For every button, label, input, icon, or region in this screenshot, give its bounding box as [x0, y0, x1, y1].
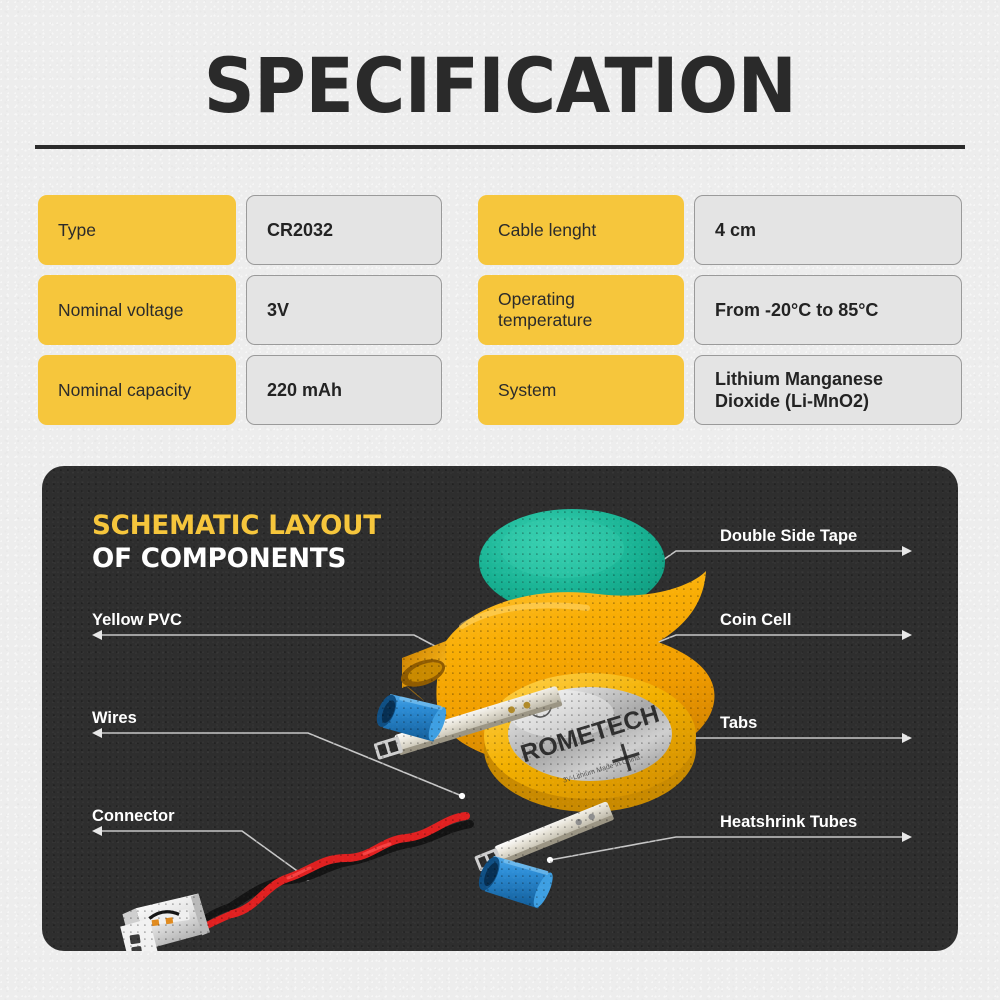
callout-label-coin-cell: Coin Cell — [720, 610, 792, 630]
schematic-heading: SCHEMATIC LAYOUT OF COMPONENTS — [92, 509, 381, 575]
callout-label-double-side-tape: Double Side Tape — [720, 526, 857, 546]
grid-gap — [442, 275, 478, 345]
spec-value-nominal-voltage: 3V — [246, 275, 442, 345]
spec-value-system: Lithium Manganese Dioxide (Li-MnO2) — [694, 355, 962, 425]
grid-gap — [236, 355, 246, 425]
specification-table: Type CR2032 Cable lenght 4 cm Nominal vo… — [38, 195, 962, 425]
callout-label-connector: Connector — [92, 806, 175, 826]
callout-label-tabs: Tabs — [720, 713, 757, 733]
spec-label-cable-lenght: Cable lenght — [478, 195, 684, 265]
wires-graphic — [206, 816, 470, 925]
grid-gap — [442, 195, 478, 265]
page-title: SPECIFICATION — [35, 48, 965, 124]
spec-value-operating-temperature: From -20°C to 85°C — [694, 275, 962, 345]
callout-label-heatshrink-tubes: Heatshrink Tubes — [720, 812, 857, 832]
schematic-panel: ROMETECH 3V Lithium Made in China Li — [42, 466, 958, 951]
schematic-heading-line2: OF COMPONENTS — [92, 542, 381, 575]
spec-value-nominal-capacity: 220 mAh — [246, 355, 442, 425]
grid-gap — [442, 355, 478, 425]
spec-value-cable-lenght: 4 cm — [694, 195, 962, 265]
spec-label-nominal-voltage: Nominal voltage — [38, 275, 236, 345]
title-divider — [35, 145, 965, 149]
grid-gap — [236, 275, 246, 345]
spec-label-type: Type — [38, 195, 236, 265]
spec-label-operating-temperature: Operating temperature — [478, 275, 684, 345]
spec-label-system: System — [478, 355, 684, 425]
grid-gap — [684, 355, 694, 425]
spec-label-nominal-capacity: Nominal capacity — [38, 355, 236, 425]
grid-gap — [236, 195, 246, 265]
grid-gap — [684, 195, 694, 265]
grid-gap — [684, 275, 694, 345]
coin-cell-graphic: ROMETECH 3V Lithium Made in China Li — [484, 673, 696, 812]
connector-graphic — [117, 893, 212, 951]
spec-value-type: CR2032 — [246, 195, 442, 265]
callout-label-yellow-pvc: Yellow PVC — [92, 610, 182, 630]
callout-label-wires: Wires — [92, 708, 137, 728]
schematic-heading-line1: SCHEMATIC LAYOUT — [92, 509, 381, 542]
